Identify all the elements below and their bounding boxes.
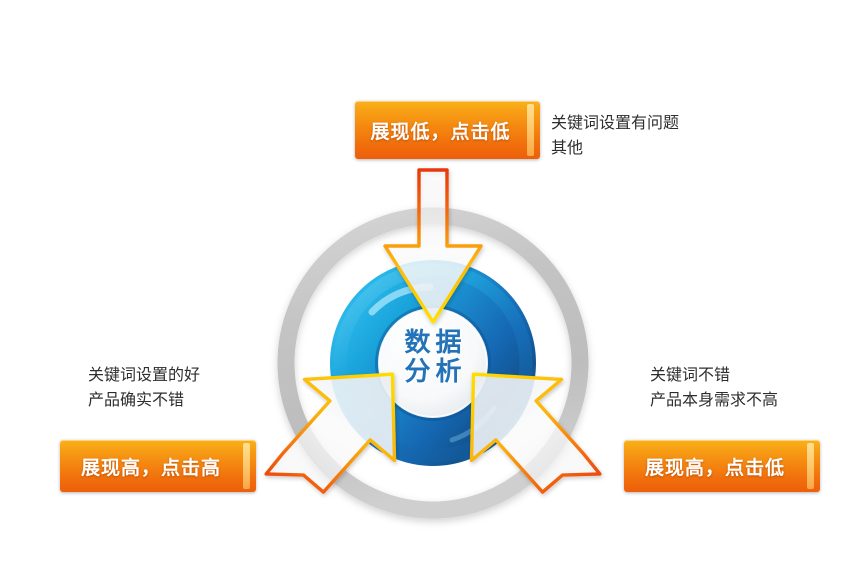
caption-bottom-right-line2: 产品本身需求不高 [650, 388, 778, 413]
caption-bottom-right-line1: 关键词不错 [650, 363, 778, 388]
button-bottom-right[interactable]: 展现高，点击低 [624, 440, 820, 492]
inner-disc [379, 309, 487, 417]
button-top-label: 展现低，点击低 [370, 117, 524, 144]
button-top[interactable]: 展现低，点击低 [355, 101, 540, 159]
caption-bottom-left: 关键词设置的好 产品确实不错 [88, 363, 200, 413]
button-bottom-left[interactable]: 展现高，点击高 [60, 440, 256, 492]
caption-top-line2: 其他 [551, 136, 679, 161]
button-bottom-right-label: 展现高，点击低 [645, 453, 799, 480]
caption-top-line1: 关键词设置有问题 [551, 111, 679, 136]
caption-top: 关键词设置有问题 其他 [551, 111, 679, 161]
caption-bottom-left-line1: 关键词设置的好 [88, 363, 200, 388]
button-bottom-left-label: 展现高，点击高 [81, 453, 235, 480]
arrow-bottom-left [257, 370, 404, 498]
caption-bottom-left-line2: 产品确实不错 [88, 388, 200, 413]
arrow-bottom-right [462, 370, 609, 498]
diagram-canvas: 数据 分析 展现低，点击低 关键词设置有问题 其他 展现高，点击高 关键词设置的… [0, 0, 865, 575]
caption-bottom-right: 关键词不错 产品本身需求不高 [650, 363, 778, 413]
